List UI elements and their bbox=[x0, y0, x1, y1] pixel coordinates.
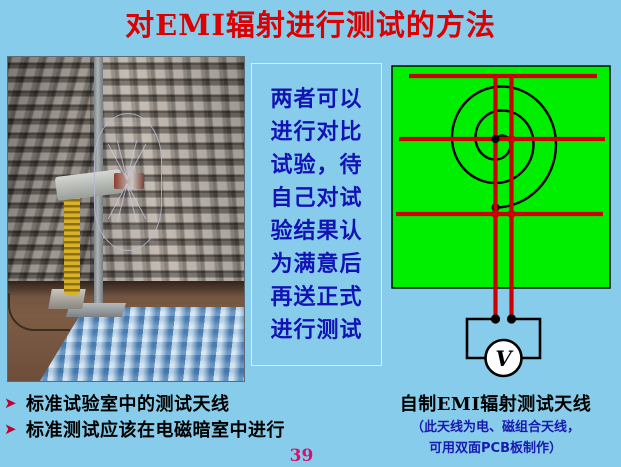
diagram-caption-note-line: （此天线为电、磁组合天线， bbox=[370, 419, 621, 437]
antenna-schematic: V bbox=[385, 58, 617, 388]
commentary-textbox: 两者可以 进行对比 试验，待 自己对试 验结果认 为满意后 再送正式 进行测试 bbox=[251, 63, 382, 366]
textbox-line: 自己对试 bbox=[270, 182, 362, 215]
list-item-label: 标准测试应该在电磁暗室中进行 bbox=[26, 416, 285, 442]
list-item-label: 标准试验室中的测试天线 bbox=[26, 390, 230, 416]
pcb-board bbox=[392, 66, 610, 288]
feed-terminal bbox=[491, 314, 500, 323]
page-number-value: 39 bbox=[290, 446, 314, 466]
textbox-line: 验结果认 bbox=[270, 215, 362, 248]
textbox-line: 两者可以 bbox=[270, 83, 362, 116]
arrow-bullet-icon: ➤ bbox=[4, 422, 26, 437]
junction-node bbox=[492, 135, 500, 143]
anechoic-chamber-photo bbox=[8, 57, 244, 381]
bullet-list: ➤ 标准试验室中的测试天线 ➤ 标准测试应该在电磁暗室中进行 bbox=[4, 390, 354, 442]
yellow-spiral-cable bbox=[64, 195, 80, 295]
list-item: ➤ 标准测试应该在电磁暗室中进行 bbox=[4, 416, 354, 442]
junction-node bbox=[492, 210, 500, 218]
arrow-bullet-icon: ➤ bbox=[4, 396, 26, 411]
page-title: 对EMI辐射进行测试的方法 bbox=[0, 8, 621, 42]
textbox-line: 试验，待 bbox=[270, 149, 362, 182]
textbox-line: 进行测试 bbox=[270, 314, 362, 347]
textbox-line: 进行对比 bbox=[270, 116, 362, 149]
diagram-caption-title: 自制EMI辐射测试天线 bbox=[370, 390, 621, 416]
list-item: ➤ 标准试验室中的测试天线 bbox=[4, 390, 354, 416]
page-number: 39 bbox=[0, 446, 621, 466]
slide-canvas: 对EMI辐射进行测试的方法 两者可以 进行对比 试验，待 自己对试 验结果认 bbox=[0, 0, 621, 467]
junction-node bbox=[508, 210, 516, 218]
textbox-line: 再送正式 bbox=[270, 281, 362, 314]
feed-terminal bbox=[507, 314, 516, 323]
voltmeter-label: V bbox=[495, 346, 514, 371]
junction-node bbox=[508, 135, 516, 143]
textbox-line: 为满意后 bbox=[270, 248, 362, 281]
